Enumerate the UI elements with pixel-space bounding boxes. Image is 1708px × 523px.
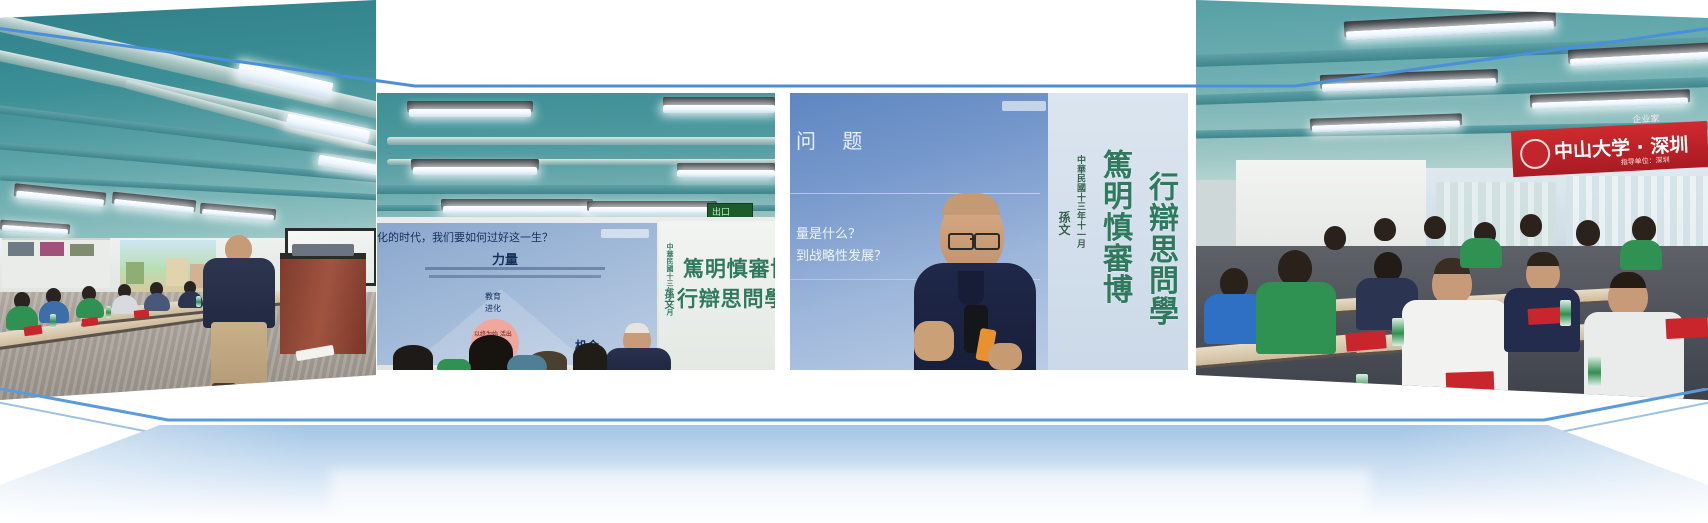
audience-head (1424, 216, 1446, 239)
ceiling-lamp (677, 170, 775, 177)
eyeglasses-right-lens (974, 233, 1000, 250)
photo-speaker-with-projection-slide[interactable]: 出口 化的时代，我们要如何过好这一生？ 力量 教育 进化 以终为始 活出 璀璨人… (377, 93, 775, 370)
audience-body (507, 355, 547, 370)
slide-headline: 化的时代，我们要如何过好这一生？ (377, 229, 553, 245)
speaker-hair (625, 323, 649, 333)
banner-organizer: 指导单位：深圳 (1620, 155, 1669, 168)
audience-head (393, 345, 433, 370)
shelf-item (40, 242, 64, 256)
eyeglasses-bridge (970, 238, 974, 240)
ceiling-lamp (413, 167, 537, 175)
slide-text-line (425, 267, 605, 270)
audience-body (437, 359, 471, 370)
slide-logo (1002, 101, 1046, 111)
audience-body (1460, 238, 1502, 268)
banner-subtitle: 企业家 (1632, 111, 1660, 125)
presenter-collar (958, 271, 984, 305)
projection-screen: 化的时代，我们要如何过好这一生？ 力量 教育 进化 以终为始 活出 璀璨人间只管… (377, 223, 657, 365)
calligraphy-row-2: 行辯思問學 (1138, 171, 1182, 351)
plate-haze (330, 470, 1370, 516)
water-bottle (1392, 318, 1404, 346)
slide-logo (601, 229, 649, 238)
slide-line-2: 到战略性发展？ (796, 245, 887, 264)
water-bottle (50, 314, 56, 328)
eyeglasses-left-lens (948, 233, 974, 250)
photo-center-1-scene: 出口 化的时代，我们要如何过好这一生？ 力量 教育 进化 以终为始 活出 璀璨人… (377, 93, 775, 370)
mural-building (126, 262, 144, 284)
slide-heading: 问 题 (796, 125, 872, 154)
lectern-monitor (292, 244, 354, 256)
audience-head (1278, 250, 1312, 286)
audience-head (1374, 218, 1396, 241)
calligraphy-side-column: 中華民國十三年十一月 (665, 243, 675, 289)
lectern (280, 253, 366, 354)
photo-left-scene (0, 0, 376, 400)
audience-body (1620, 240, 1662, 270)
desk-nametag (134, 309, 150, 319)
speaker-shirt (605, 348, 671, 370)
calligraphy-signature: 孫文 (660, 289, 675, 315)
ceiling-pipe (387, 137, 775, 145)
audience-head (1520, 214, 1542, 237)
window-building (1436, 182, 1556, 248)
calligraphy-wall: 篤明慎審博 行辯思問學 中華民國十三年十一月 孫文 (659, 221, 775, 370)
student-body (76, 298, 104, 318)
desk-nametag (1345, 330, 1386, 351)
instructor-shirt (203, 258, 275, 328)
ceiling-lamp (663, 105, 775, 113)
ceiling-beam (377, 185, 775, 194)
mural-building (166, 258, 188, 286)
slide-center-label: 力量 (492, 249, 518, 268)
water-bottle (106, 306, 111, 318)
water-bottle (1560, 300, 1571, 326)
presenter-hand (914, 321, 954, 361)
ceiling-lamp (409, 109, 531, 117)
calligraphy-wall: 篤明慎審博 行辯思問學 中華民國十三年十一月 孫文 (1048, 93, 1188, 370)
photo-right-scene: 中山大学 · 深圳 企业家 指导单位：深圳 (1196, 0, 1708, 400)
audience-head (573, 343, 607, 370)
slide-node-top: 教育 (485, 291, 501, 302)
desk-nametag (1528, 307, 1563, 325)
water-bottle (1588, 356, 1601, 386)
photo-instructor-addressing-class[interactable] (0, 0, 376, 400)
photo-audience-seated-in-classroom[interactable]: 中山大学 · 深圳 企业家 指导单位：深圳 (1196, 0, 1708, 400)
ceiling-lamp (589, 207, 715, 214)
desk-nametag (1446, 371, 1495, 395)
audience-head (1576, 220, 1600, 246)
calligraphy-row-1: 篤明慎審博 (683, 253, 775, 283)
instructor-trousers (211, 322, 267, 388)
calligraphy-row-1: 篤明慎審博 (1092, 149, 1136, 329)
instructor-shoe (244, 384, 268, 394)
audience-head (1324, 226, 1346, 250)
calligraphy-signature: 孫文 (1056, 211, 1073, 255)
photo-center-2-scene: 问 题 量是什么？ 到战略性发展？ 篤明慎審博 行辯思問學 中華民國十三年十一月… (790, 93, 1188, 370)
audience-head (1632, 216, 1656, 242)
university-crest-icon (1519, 138, 1551, 170)
water-bottle (196, 296, 201, 307)
desk-nametag (1666, 317, 1708, 339)
presenter-hand (988, 343, 1022, 370)
banner-stage: 出口 化的时代，我们要如何过好这一生？ 力量 教育 进化 以终为始 活出 璀璨人… (0, 0, 1708, 523)
slide-text-line (429, 275, 601, 278)
shelf-item (8, 242, 34, 256)
slide-rule (790, 193, 1040, 194)
photo-speaker-portrait-presenting[interactable]: 问 题 量是什么？ 到战略性发展？ 篤明慎審博 行辯思問學 中華民國十三年十一月… (790, 93, 1188, 370)
shelf-item (70, 244, 94, 256)
slide-node-top-2: 进化 (485, 303, 501, 314)
instructor-shoe (212, 383, 236, 393)
water-bottle (1356, 374, 1368, 400)
calligraphy-side-column: 中華民國十三年十一月 (1074, 155, 1087, 255)
slide-line-1: 量是什么？ (796, 223, 861, 242)
audience-body (1256, 282, 1336, 354)
calligraphy-row-2: 行辯思問學 (677, 283, 775, 313)
ceiling-lamp (443, 206, 591, 214)
